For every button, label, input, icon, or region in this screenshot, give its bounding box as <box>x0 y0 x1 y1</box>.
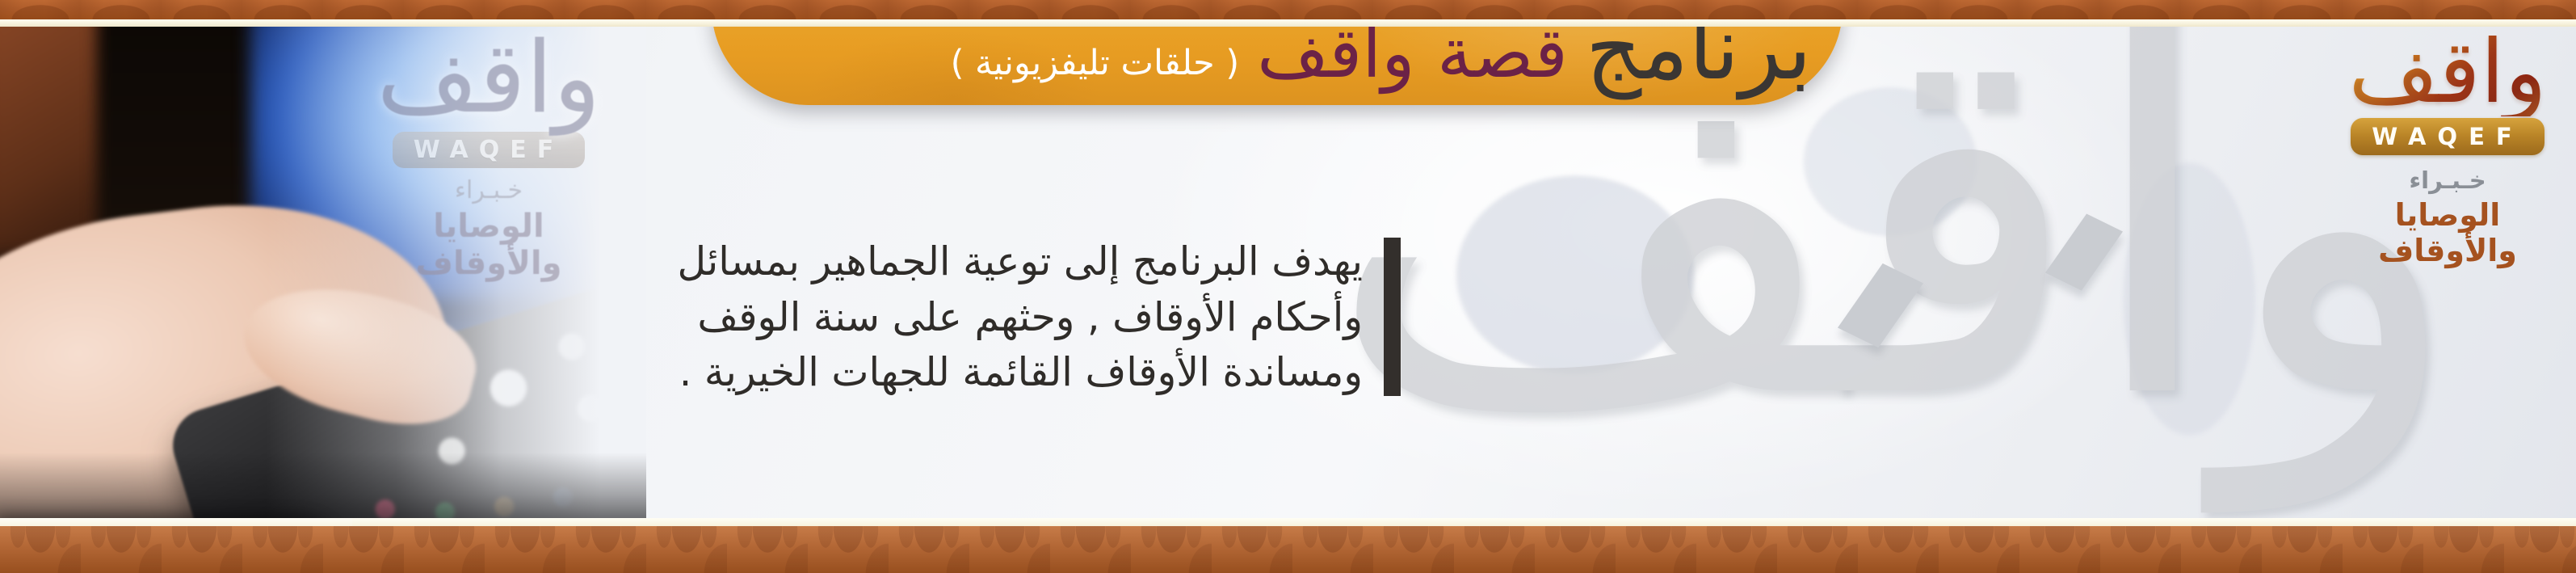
description-line-2: وأحكام الأوقاف , وحثهم على سنة الوقف <box>611 290 1363 346</box>
description-text: يهدف البرنامج إلى توعية الجماهير بمسائل … <box>611 234 1363 401</box>
description-line-1: يهدف البرنامج إلى توعية الجماهير بمسائل <box>611 234 1363 290</box>
brand-logo: واقف WAQEF خـبـراء الوصايا والأوقاف <box>2347 29 2549 268</box>
top-ornamental-border <box>0 0 2576 19</box>
bottom-ornamental-border <box>0 526 2576 573</box>
brand-logo-tagline-top: خـبـراء <box>2347 166 2549 194</box>
description-line-3: ومساندة الأوقاف القائمة للجهات الخيرية . <box>611 345 1363 401</box>
accent-bar <box>1384 238 1401 396</box>
program-subtitle: ( حلقات تليفزيونية ) <box>951 46 1240 81</box>
brand-logo-calligraphy: واقف <box>2347 29 2549 116</box>
description-block: يهدف البرنامج إلى توعية الجماهير بمسائل … <box>611 234 1401 401</box>
remote-control-photo <box>0 27 638 526</box>
bottom-left-tab-divider <box>0 518 352 526</box>
waqef-program-banner: واقف واقف WAQEF خـبـراء الوصايا والأوقاف… <box>0 0 2576 573</box>
bottom-divider-line <box>0 518 2576 526</box>
program-title-main: قصة واقف <box>1257 21 1568 87</box>
brand-logo-tagline-bottom: الوصايا والأوقاف <box>2347 197 2549 268</box>
brand-logo-latin-name: WAQEF <box>2351 118 2544 155</box>
top-divider-line <box>0 19 2576 27</box>
